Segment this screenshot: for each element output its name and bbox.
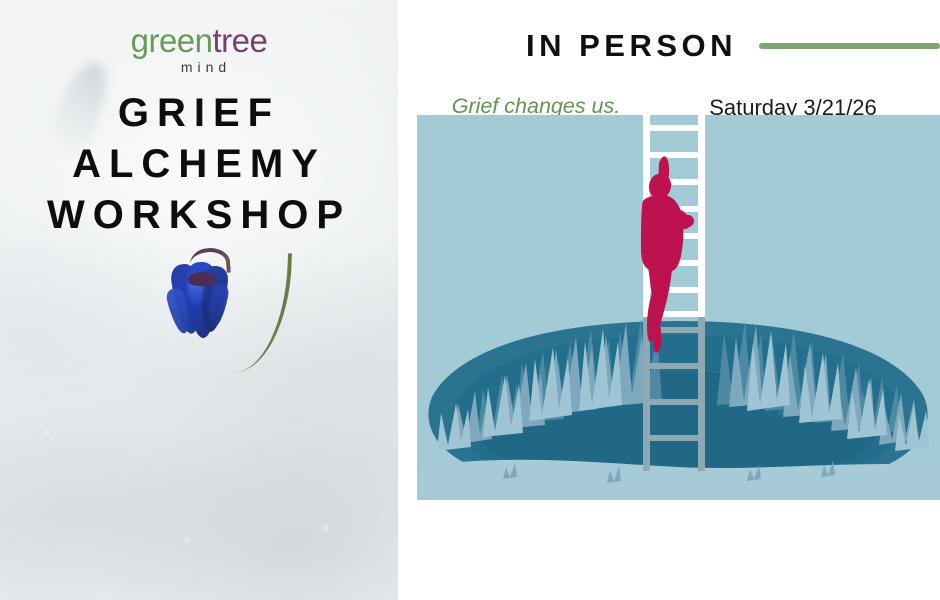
title-line-1: GRIEF bbox=[0, 88, 398, 139]
in-person-heading: IN PERSON bbox=[526, 28, 737, 64]
hole-ladder-illustration bbox=[417, 115, 940, 500]
title-line-2: ALCHEMY bbox=[0, 139, 398, 190]
title-line-3: WORKSHOP bbox=[0, 190, 398, 241]
flower-calyx bbox=[188, 272, 216, 286]
left-photo-panel: greentree mind GRIEF ALCHEMY WORKSHOP bbox=[0, 0, 398, 600]
green-divider-rule bbox=[759, 43, 940, 49]
logo-subtitle: mind bbox=[0, 59, 398, 75]
workshop-title: GRIEF ALCHEMY WORKSHOP bbox=[0, 88, 398, 242]
brand-logo: greentree mind bbox=[0, 24, 398, 75]
flower-petals bbox=[168, 262, 230, 346]
logo-word-green: green bbox=[131, 22, 213, 59]
flyer-canvas: greentree mind GRIEF ALCHEMY WORKSHOP bbox=[0, 0, 940, 600]
header-row: IN PERSON bbox=[398, 24, 940, 68]
right-content-panel: IN PERSON Grief changes us. What if it c… bbox=[398, 0, 940, 600]
bluebell-flower bbox=[162, 248, 272, 376]
logo-word-tree: tree bbox=[213, 22, 268, 59]
